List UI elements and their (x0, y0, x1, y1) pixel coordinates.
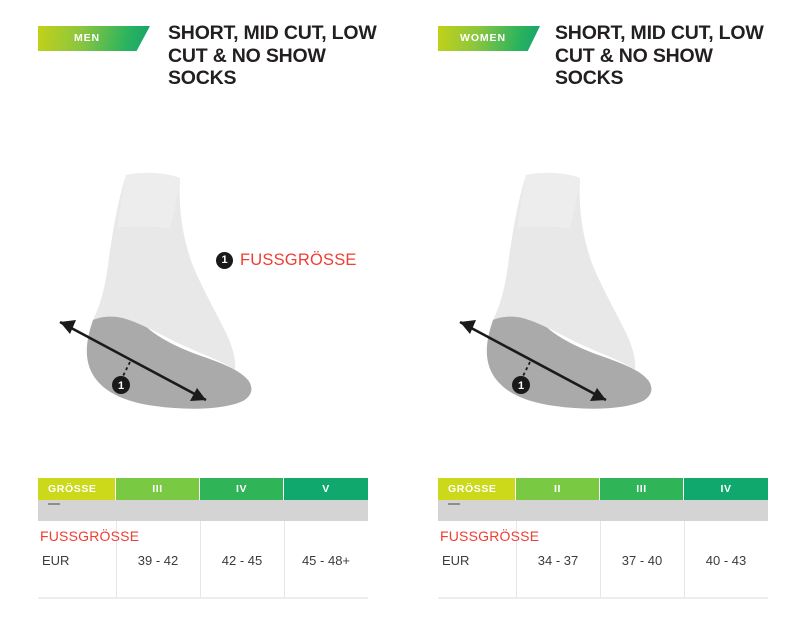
table-header-row: GRÖSSE III IV V (38, 478, 368, 500)
svg-text:1: 1 (118, 380, 124, 392)
panel-men: MEN SHORT, MID CUT, LOW CUT & NO SHOW SO… (0, 0, 400, 630)
table-body: FUSSGRÖSSE EUR 39 - 42 42 - 45 45 - 48+ (38, 521, 368, 599)
subheader-dash (48, 503, 60, 505)
page-title-women: SHORT, MID CUT, LOW CUT & NO SHOW SOCKS (555, 22, 785, 90)
table-group-label: FUSSGRÖSSE (440, 528, 539, 544)
size-table-men: GRÖSSE III IV V FUSSGRÖSSE EUR 39 - 42 4… (38, 478, 368, 599)
header-women: WOMEN SHORT, MID CUT, LOW CUT & NO SHOW … (438, 26, 788, 116)
legend-number-badge: 1 (216, 252, 233, 269)
table-group-label: FUSSGRÖSSE (40, 528, 139, 544)
table-cell-value-2: 37 - 40 (600, 551, 684, 571)
table-header-cell-2: IV (200, 478, 284, 500)
sock-illustration-men: 1 (30, 130, 390, 420)
table-cell-unit: EUR (38, 551, 116, 571)
category-badge-label: WOMEN (438, 26, 528, 51)
table-header-cell-size: GRÖSSE (438, 478, 516, 500)
table-subheader-row (438, 500, 768, 521)
table-header-cell-3: IV (684, 478, 768, 500)
table-row: EUR 34 - 37 37 - 40 40 - 43 (438, 551, 768, 571)
page-title-men: SHORT, MID CUT, LOW CUT & NO SHOW SOCKS (168, 22, 398, 90)
callout-badge-1: 1 (512, 376, 530, 394)
table-cell-value-1: 34 - 37 (516, 551, 600, 571)
table-header-cell-1: III (116, 478, 200, 500)
size-table-women: GRÖSSE II III IV FUSSGRÖSSE EUR 34 - 37 … (438, 478, 768, 599)
callout-badge-1: 1 (112, 376, 130, 394)
subheader-dash (448, 503, 460, 505)
table-cell-value-3: 45 - 48+ (284, 551, 368, 571)
table-body: FUSSGRÖSSE EUR 34 - 37 37 - 40 40 - 43 (438, 521, 768, 599)
sock-shape (87, 173, 252, 409)
table-subheader-row (38, 500, 368, 521)
category-badge-women: WOMEN (438, 26, 540, 51)
category-badge-label: MEN (38, 26, 136, 51)
table-header-cell-3: V (284, 478, 368, 500)
table-cell-value-2: 42 - 45 (200, 551, 284, 571)
legend-label: FUSSGRÖSSE (240, 251, 357, 270)
table-header-cell-size: GRÖSSE (38, 478, 116, 500)
svg-text:1: 1 (518, 380, 524, 392)
header-men: MEN SHORT, MID CUT, LOW CUT & NO SHOW SO… (38, 26, 388, 116)
measurement-legend-men: 1 FUSSGRÖSSE (216, 250, 357, 270)
panel-women: WOMEN SHORT, MID CUT, LOW CUT & NO SHOW … (400, 0, 800, 630)
table-header-row: GRÖSSE II III IV (438, 478, 768, 500)
table-header-cell-1: II (516, 478, 600, 500)
table-header-cell-2: III (600, 478, 684, 500)
sock-illustration-women: 1 (430, 130, 790, 420)
category-badge-men: MEN (38, 26, 150, 51)
table-cell-value-1: 39 - 42 (116, 551, 200, 571)
table-cell-value-3: 40 - 43 (684, 551, 768, 571)
sock-shape (487, 173, 652, 409)
table-cell-unit: EUR (438, 551, 516, 571)
table-row: EUR 39 - 42 42 - 45 45 - 48+ (38, 551, 368, 571)
